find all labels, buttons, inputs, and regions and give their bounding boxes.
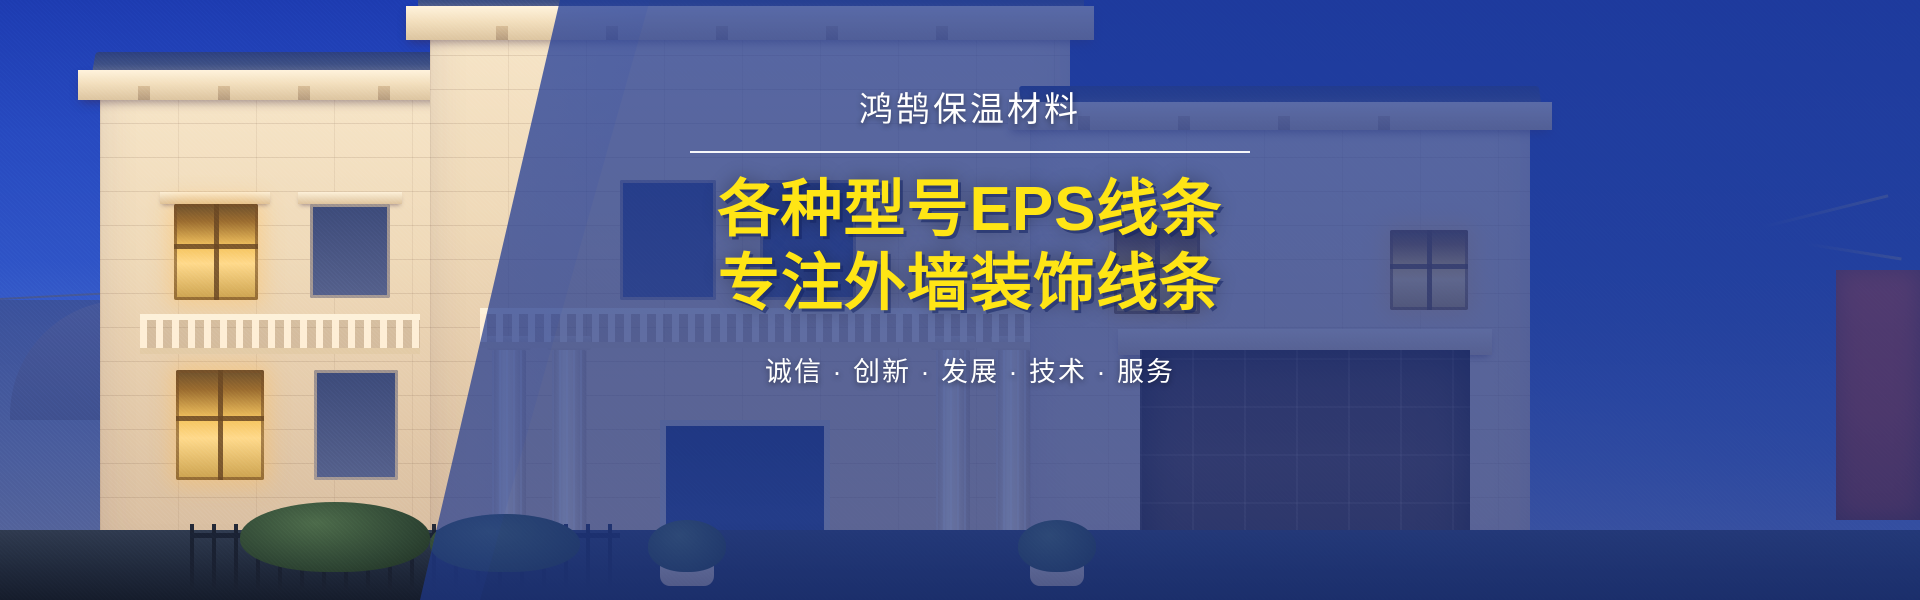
headline-line-1: 各种型号EPS线条 [690,173,1250,246]
headline-line-2: 专注外墙装饰线条 [690,247,1250,320]
banner-text-block: 鸿鹄保温材料 各种型号EPS线条 专注外墙装饰线条 诚信 · 创新 · 发展 ·… [690,92,1250,389]
brand-name: 鸿鹄保温材料 [690,92,1250,129]
tagline: 诚信 · 创新 · 发展 · 技术 · 服务 [690,350,1250,389]
divider-rule [690,151,1250,153]
promo-banner: 鸿鹄保温材料 各种型号EPS线条 专注外墙装饰线条 诚信 · 创新 · 发展 ·… [0,0,1920,600]
